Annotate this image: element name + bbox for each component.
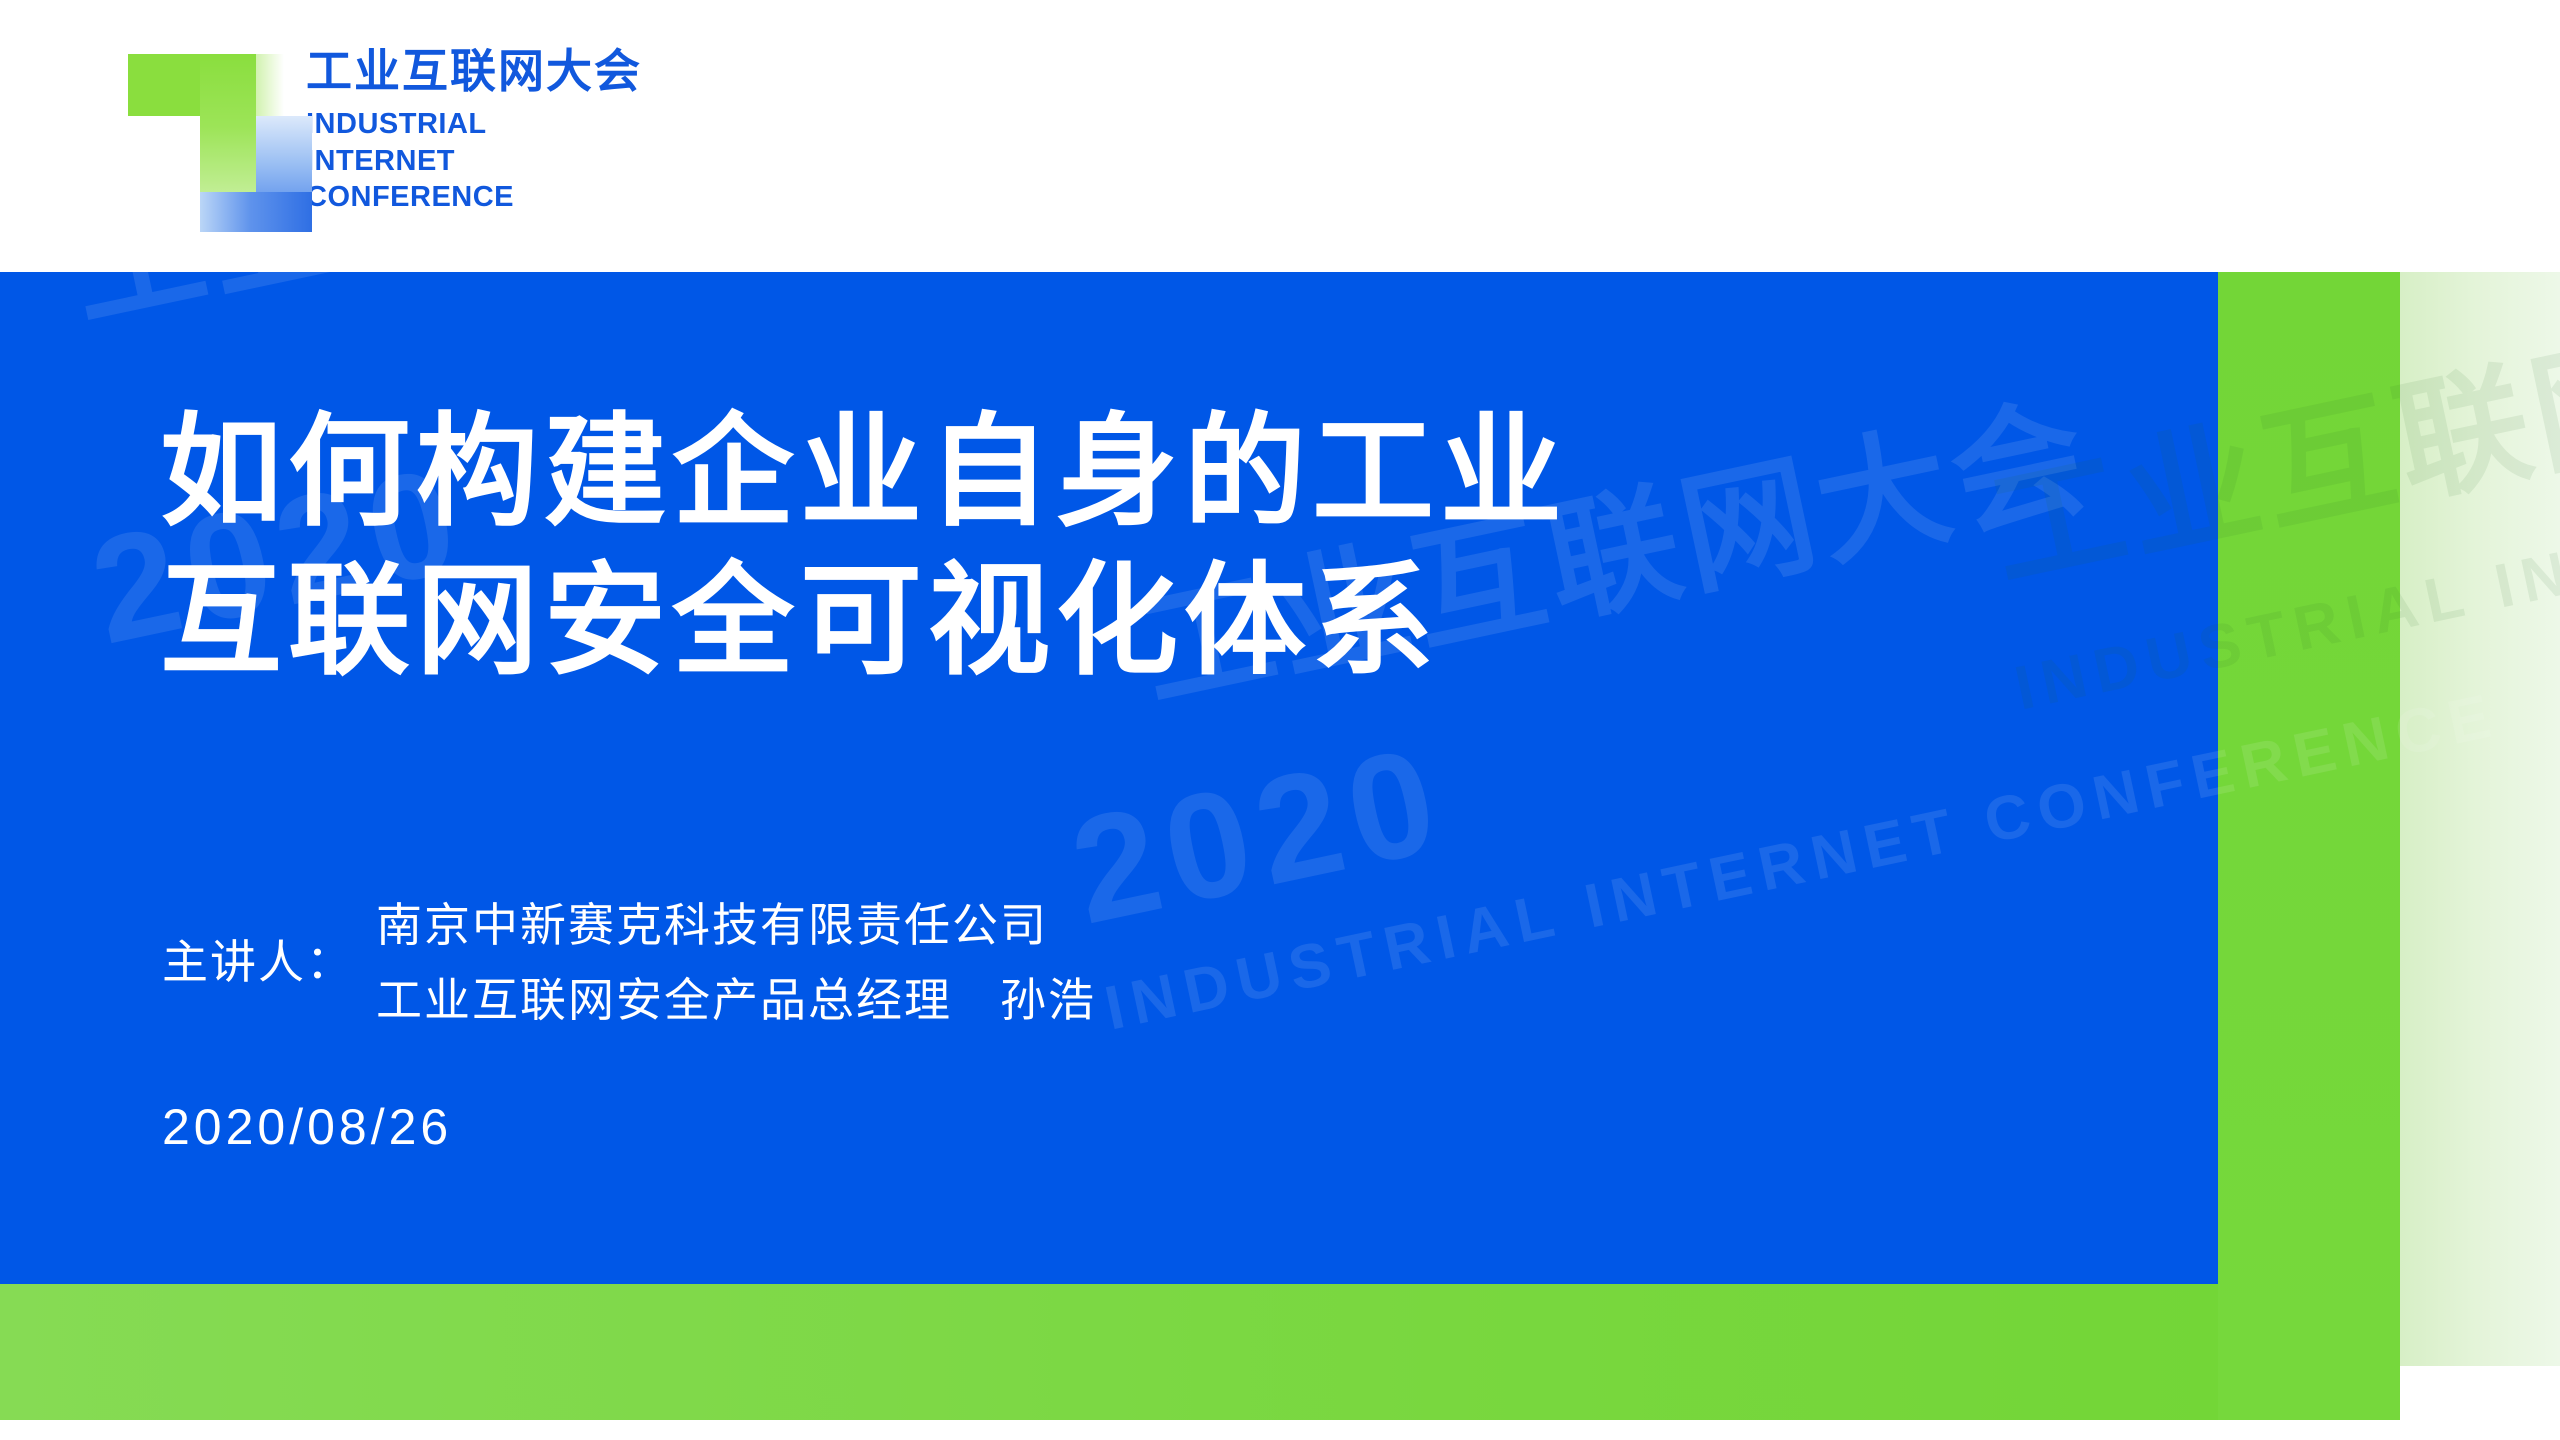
logo-green-stem — [200, 54, 256, 214]
slide-title: 如何构建企业自身的工业 互联网安全可视化体系 — [160, 398, 2060, 696]
presenter-block: 主讲人： 南京中新赛克科技有限责任公司 工业互联网安全产品总经理 孙浩 — [162, 888, 1096, 1037]
logo-blue-foot — [200, 192, 312, 232]
slide-header: 工业互联网大会 INDUSTRIAL INTERNET CONFERENCE — [0, 0, 2560, 272]
presenter-label: 主讲人： — [162, 937, 354, 988]
presenter-organization: 南京中新赛克科技有限责任公司 — [376, 888, 1096, 963]
presenter-role-name: 工业互联网安全产品总经理 孙浩 — [376, 963, 1096, 1038]
presentation-slide: 工业互联网大会 2020 INDUSTRIAL INTERNET CONFERE… — [0, 0, 2560, 1440]
title-line-1: 如何构建企业自身的工业 — [160, 398, 2060, 547]
title-line-2: 互联网安全可视化体系 — [160, 547, 2060, 696]
logo-en-line-3: CONFERENCE — [306, 179, 642, 216]
logo-title-en: INDUSTRIAL INTERNET CONFERENCE — [306, 106, 642, 216]
logo-text: 工业互联网大会 INDUSTRIAL INTERNET CONFERENCE — [306, 44, 642, 216]
green-accent-column — [2218, 272, 2400, 1420]
slide-date: 2020/08/26 — [162, 1098, 452, 1156]
logo-en-line-2: INTERNET — [306, 143, 642, 180]
presenter-details: 南京中新赛克科技有限责任公司 工业互联网安全产品总经理 孙浩 — [376, 888, 1096, 1037]
logo-title-cn: 工业互联网大会 — [306, 48, 642, 94]
logo-en-line-1: INDUSTRIAL — [306, 106, 642, 143]
green-bottom-bar — [0, 1284, 2218, 1420]
conference-logo: 工业互联网大会 INDUSTRIAL INTERNET CONFERENCE — [104, 44, 642, 232]
pale-green-accent-column — [2400, 272, 2560, 1366]
logo-mark-icon — [104, 44, 284, 232]
